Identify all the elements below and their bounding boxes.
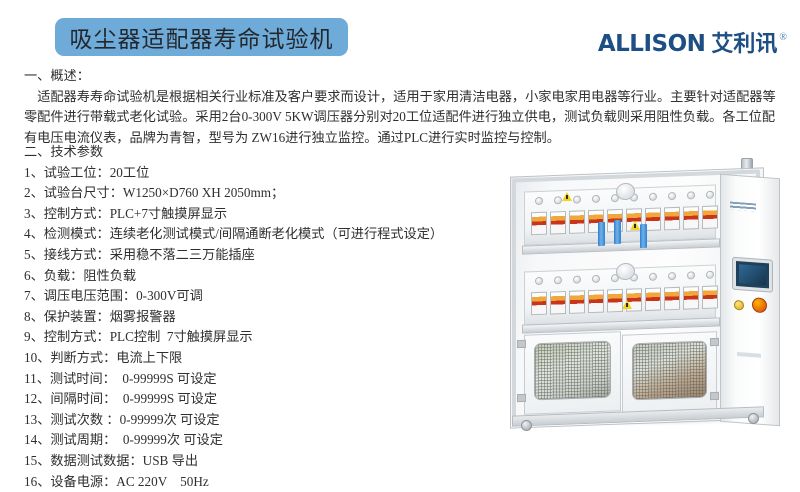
overview-line: 适配器寿寿命试验机是根据相关行业标准及客户要求而设计，适用于家用清洁电器，小家电…	[24, 87, 796, 108]
hmi-touchscreen	[733, 258, 772, 292]
spec-item-16: 16、设备电源：AC 220V 50Hz	[24, 472, 494, 492]
spec-item-1: 1、试验工位：20工位	[24, 163, 494, 184]
page-title-banner: 吸尘器适配器寿命试验机	[55, 18, 348, 56]
spec-item-12: 12、间隔时间： 0-99999S 可设定	[24, 389, 494, 410]
control-panel-pillar	[720, 174, 780, 426]
spec-item-15: 15、数据测试数据：USB 导出	[24, 451, 494, 472]
overview-section: 一、概述： 适配器寿寿命试验机是根据相关行业标准及客户要求而设计，适用于家用清洁…	[24, 66, 796, 148]
spec-section: 二、技术参数 1、试验工位：20工位 2、试验台尺寸：W1250×D760 XH…	[24, 142, 494, 492]
logo-text-cn: 艾利讯	[711, 32, 777, 57]
registered-trademark-icon: ®	[779, 32, 787, 43]
spec-item-9: 9、控制方式：PLC控制 7寸触摸屏显示	[24, 327, 494, 348]
spec-item-2: 2、试验台尺寸：W1250×D760 XH 2050mm；	[24, 183, 494, 204]
spec-item-6: 6、负载：阻性负载	[24, 266, 494, 287]
indicator-button	[734, 300, 744, 311]
panel-brand-label	[730, 202, 756, 212]
caster-wheel	[521, 420, 532, 431]
logo-text-en: ALLISON	[598, 32, 706, 57]
spec-item-11: 11、测试时间： 0-99999S 可设定	[24, 369, 494, 390]
company-logo: ALLISON 艾利讯 ®	[598, 32, 787, 57]
spec-item-10: 10、判断方式：电流上下限	[24, 348, 494, 369]
spec-item-8: 8、保护装置：烟雾报警器	[24, 307, 494, 328]
spec-item-4: 4、检测模式：连续老化测试模式/间隔通断老化模式（可进行程式设定）	[24, 224, 494, 245]
spec-item-5: 5、接线方式：采用稳不落二三万能插座	[24, 245, 494, 266]
spec-item-14: 14、测试周期： 0-99999次 可设定	[24, 430, 494, 451]
spec-item-3: 3、控制方式：PLC+7寸触摸屏显示	[24, 204, 494, 225]
panel-lower-label	[737, 352, 761, 358]
spec-item-13: 13、测试次数 ：0-99999次 可设定	[24, 410, 494, 431]
slide-page: 吸尘器适配器寿命试验机 ALLISON 艾利讯 ® 一、概述： 适配器寿寿命试验…	[0, 0, 800, 450]
caster-wheel	[748, 413, 759, 424]
page-title: 吸尘器适配器寿命试验机	[70, 20, 334, 54]
spec-heading: 二、技术参数	[24, 142, 494, 163]
emergency-stop-button	[752, 297, 767, 313]
overview-line: 零配件进行带载式老化试验。采用2台0-300V 5KW调压器分别对20工位适配件…	[24, 107, 796, 128]
overview-heading: 一、概述：	[24, 66, 796, 87]
machine-photo	[498, 158, 796, 443]
spec-item-7: 7、调压电压范围：0-300V可调	[24, 286, 494, 307]
